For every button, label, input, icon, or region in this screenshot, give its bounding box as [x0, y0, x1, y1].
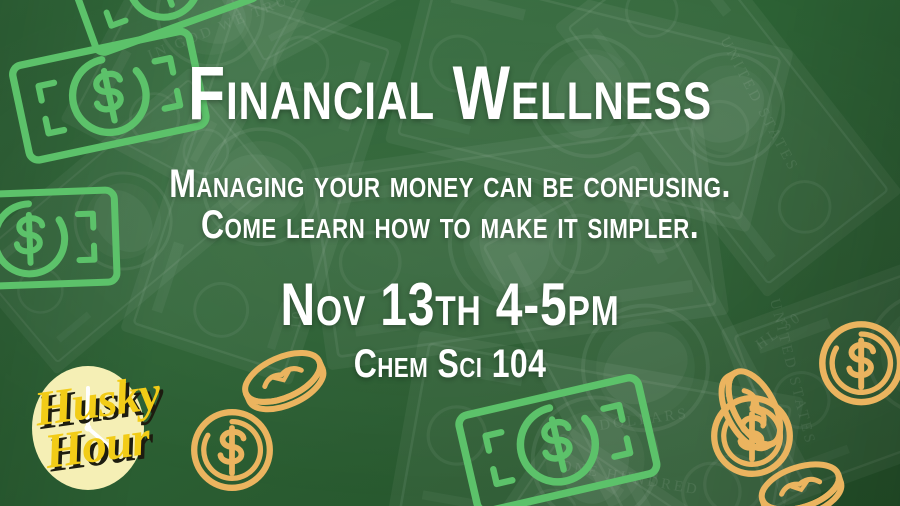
subtitle-line-2: Come learn how to make it simpler.	[90, 205, 810, 246]
event-date-time: Nov 13th 4-5pm	[90, 275, 810, 335]
subtitle-block: Managing your money can be confusing. Co…	[90, 164, 810, 246]
subtitle-line-1: Managing your money can be confusing.	[90, 164, 810, 205]
event-location: Chem Sci 104	[90, 344, 810, 384]
page-title: Financial Wellness	[90, 56, 810, 132]
husky-hour-logo: Husky Hour	[2, 358, 192, 506]
financial-wellness-poster: IN GOD WE TRUST UNITED STATES UNITED STA…	[0, 0, 900, 506]
